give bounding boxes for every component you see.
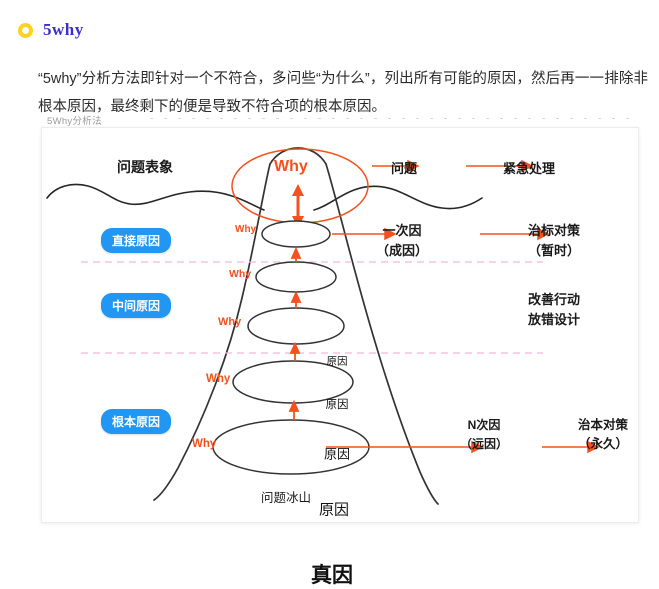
label-first-cause: 一次因 （成因） [376, 221, 428, 261]
why-label-top: Why [274, 158, 308, 176]
cause-ellipse-label-3: 原因 [324, 444, 350, 463]
water-line-right [314, 186, 482, 210]
connector-head-3 [291, 344, 299, 353]
label-radical-measure-line1: 治本对策 [578, 416, 628, 435]
label-nth-cause: N次因 （远因） [460, 416, 508, 454]
label-nth-cause-line1: N次因 [460, 416, 508, 435]
label-improve-action: 改善行动 放错设计 [528, 290, 580, 330]
pill-root-cause: 根本原因 [101, 409, 171, 434]
label-problem: 问题 [391, 158, 417, 177]
why-label-step3: Why [218, 316, 241, 328]
article-heading: 5why [18, 20, 84, 40]
label-improve-action-line2: 放错设计 [528, 310, 580, 330]
caption-dotted-rule [150, 118, 637, 119]
why-label-step1: Why [235, 224, 256, 235]
cause-ellipse-3 [248, 308, 344, 344]
label-symptom-measure-line2: （暂时） [528, 241, 580, 261]
label-symptom-measure: 治标对策 （暂时） [528, 221, 580, 261]
why-label-step5: Why [192, 438, 216, 450]
cause-ellipse-1 [262, 221, 330, 247]
label-nth-cause-line2: （远因） [460, 435, 508, 454]
label-improve-action-line1: 改善行动 [528, 290, 580, 310]
why-label-step4: Why [206, 373, 230, 385]
cause-ellipse-label-1: 原因 [327, 354, 348, 369]
article-paragraph: “5why”分析方法即针对一个不符合，多问些“为什么”，列出所有可能的原因，然后… [38, 65, 648, 121]
label-radical-measure: 治本对策 （永久） [578, 416, 628, 454]
pill-middle-cause: 中间原因 [101, 293, 171, 318]
why-label-step2: Why [229, 268, 251, 280]
label-urgent-action: 紧急处理 [503, 158, 555, 177]
label-first-cause-line1: 一次因 [376, 221, 428, 241]
cause-ellipse-label-4: 原因 [319, 499, 349, 520]
label-first-cause-line2: （成因） [376, 241, 428, 261]
pill-direct-cause: 直接原因 [101, 228, 171, 253]
cause-ellipse-label-5: 真因 [311, 559, 353, 589]
label-symptom-measure-line1: 治标对策 [528, 221, 580, 241]
page-title: 5why [43, 20, 84, 40]
label-problem-iceberg: 问题冰山 [261, 487, 311, 506]
figure-caption: 5Why分析法 [47, 113, 102, 127]
ring-bullet-icon [18, 23, 33, 38]
label-problem-surface: 问题表象 [117, 157, 173, 177]
tip-arrow-head-up [292, 184, 304, 196]
connector-head-1 [292, 249, 300, 258]
cause-ellipse-label-2: 原因 [326, 396, 349, 412]
cause-ellipse-2 [256, 262, 336, 292]
connector-head-2 [292, 293, 300, 302]
label-radical-measure-line2: （永久） [578, 435, 628, 454]
